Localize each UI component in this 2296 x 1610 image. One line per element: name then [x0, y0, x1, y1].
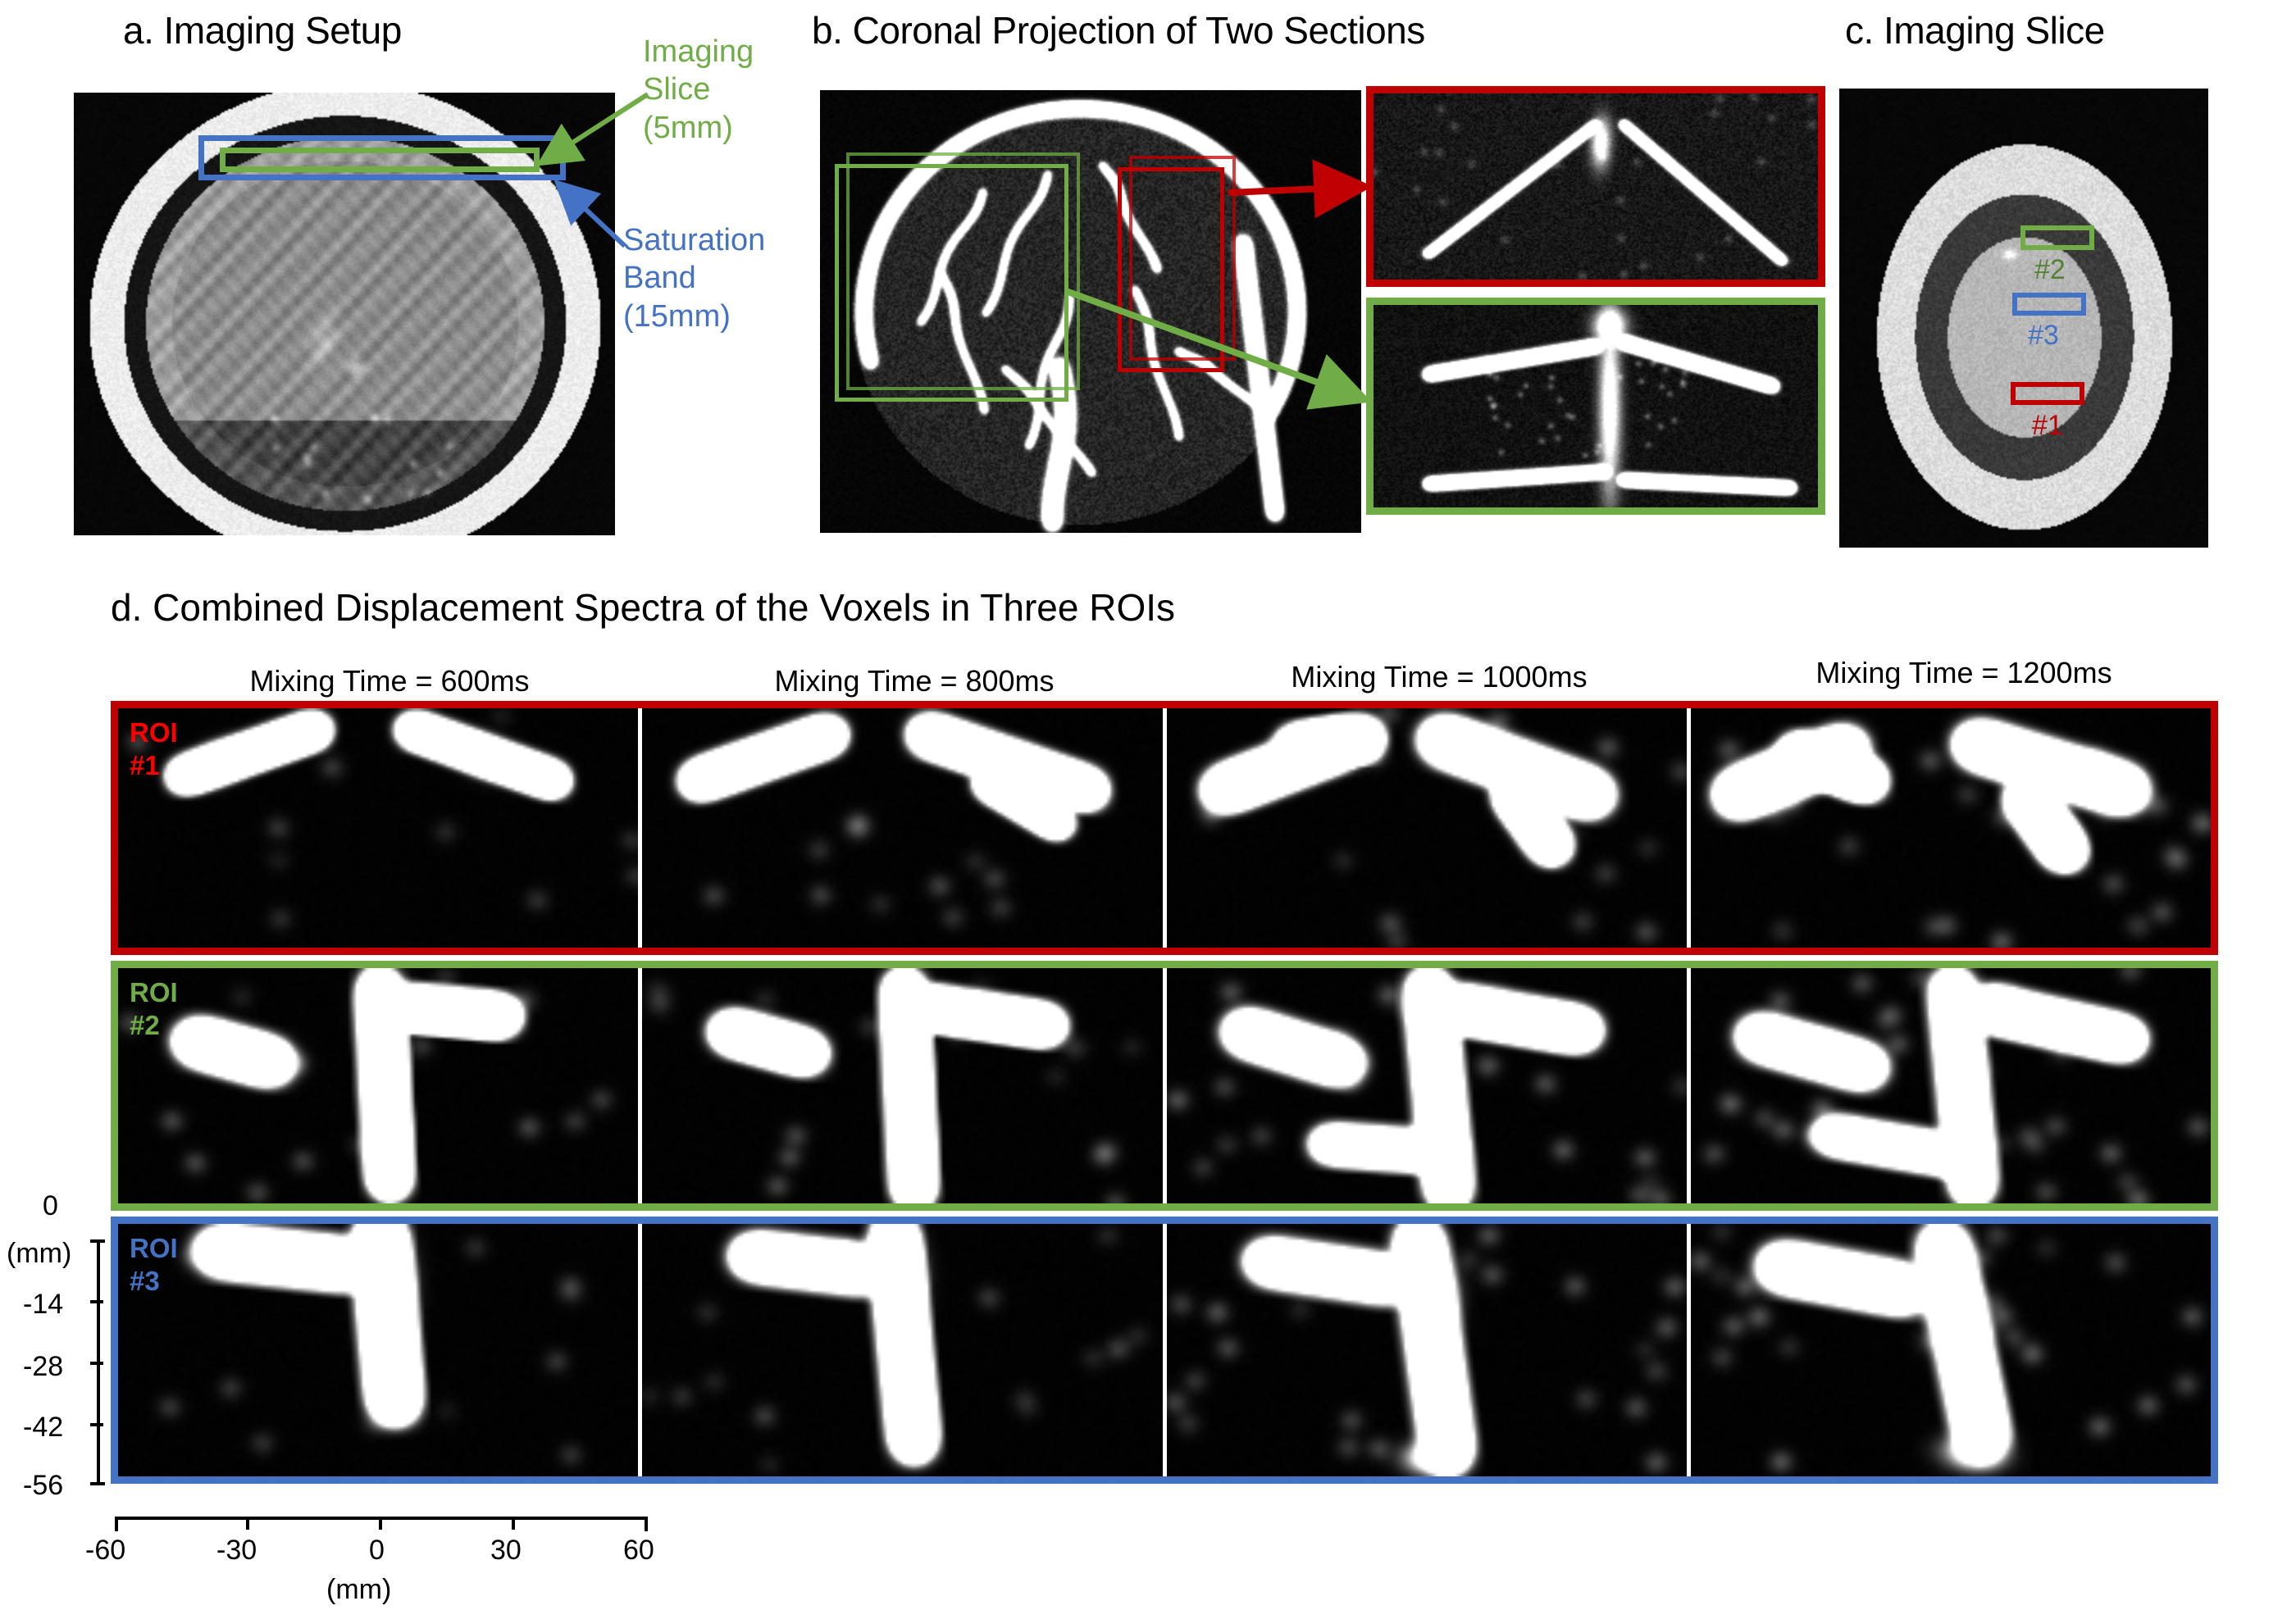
spectrum-cell-roi2-800ms	[638, 968, 1162, 1203]
panel-d-row-roi1: ROI #1	[111, 701, 2218, 955]
panel-d-column-title-600ms: Mixing Time = 600ms	[127, 664, 652, 698]
spectrum-cell-roi1-1200ms	[1687, 708, 2211, 948]
panel-c-roi2-label: #2	[2034, 254, 2066, 286]
panel-b-title: b. Coronal Projection of Two Sections	[812, 8, 1425, 52]
panel-d-column-title-1200ms: Mixing Time = 1200ms	[1701, 656, 2226, 690]
panel-c-roi3-box	[2012, 293, 2086, 316]
spectrum-cell-roi2-1000ms	[1163, 968, 1687, 1203]
panel-d-row-label-roi2: ROI #2	[130, 976, 178, 1043]
spectrum-cell-roi1-600ms: ROI #1	[118, 708, 638, 948]
panel-d-column-title-1000ms: Mixing Time = 1000ms	[1177, 660, 1701, 694]
panel-a-imaging-slice-box	[220, 148, 540, 172]
x-tick-minus30: -30	[216, 1535, 257, 1567]
panel-c-roi1-box	[2011, 382, 2084, 405]
spectrum-cell-roi2-600ms: ROI #2	[118, 968, 638, 1203]
panel-c-roi2-box	[2020, 225, 2094, 250]
panel-d-row-label-roi3: ROI #3	[130, 1232, 178, 1298]
panel-a-title: a. Imaging Setup	[123, 8, 402, 52]
panel-c-roi1-label: #1	[2032, 410, 2063, 442]
x-axis-tick-minus60	[115, 1517, 118, 1531]
panel-d-row-label-roi1: ROI #1	[130, 716, 178, 783]
x-tick-30: 30	[490, 1535, 522, 1567]
x-axis-tick-60	[645, 1517, 648, 1531]
spectrum-cell-roi2-1200ms	[1687, 968, 2211, 1203]
panel-b-red-inset-mri	[1366, 86, 1825, 287]
y-axis-tick-56	[90, 1482, 105, 1485]
spectrum-cell-roi3-800ms	[638, 1224, 1162, 1476]
y-axis-tick-top	[90, 1239, 105, 1243]
panel-b-red-section-box-back	[1129, 156, 1236, 361]
spectrum-cell-roi3-1000ms	[1163, 1224, 1687, 1476]
panel-b-green-section-box-back	[846, 152, 1080, 390]
panel-a-saturation-band-annotation: Saturation Band (15mm)	[623, 221, 828, 335]
panel-d-column-title-800ms: Mixing Time = 800ms	[652, 664, 1177, 698]
panel-c-title: c. Imaging Slice	[1845, 8, 2105, 52]
x-axis-unit-label: (mm)	[326, 1574, 391, 1606]
x-tick-0: 0	[369, 1535, 385, 1567]
panel-b-green-inset-mri	[1366, 298, 1825, 515]
x-axis-tick-minus30	[246, 1517, 249, 1530]
x-tick-minus60: -60	[85, 1535, 125, 1567]
spectrum-cell-roi1-800ms	[638, 708, 1162, 948]
panel-d-row-roi2: ROI #2	[111, 961, 2218, 1211]
x-axis-tick-0	[379, 1517, 382, 1530]
spectrum-cell-roi3-600ms: ROI #3	[118, 1224, 638, 1476]
spectrum-cell-roi1-1000ms	[1163, 708, 1687, 948]
panel-d-row-roi3: ROI #3	[111, 1217, 2218, 1484]
panel-a-imaging-slice-annotation: Imaging Slice (5mm)	[643, 33, 823, 147]
panel-c-imaging-slice-mri	[1839, 89, 2208, 548]
y-tick-minus28: -28	[23, 1351, 63, 1383]
y-axis-tick-42	[90, 1423, 103, 1426]
x-tick-60: 60	[623, 1535, 654, 1567]
y-tick-minus42: -42	[23, 1412, 63, 1444]
y-axis-tick-14	[90, 1300, 103, 1303]
y-tick-0: 0	[43, 1190, 58, 1222]
spectrum-cell-roi3-1200ms	[1687, 1224, 2211, 1476]
y-tick-minus56: -56	[23, 1470, 63, 1502]
y-tick-minus14: -14	[23, 1289, 63, 1321]
panel-c-roi3-label: #3	[2028, 320, 2059, 352]
x-axis-tick-30	[512, 1517, 515, 1530]
panel-d-title: d. Combined Displacement Spectra of the …	[111, 585, 1175, 630]
y-axis-unit-label: (mm)	[7, 1238, 71, 1270]
y-axis-tick-28	[90, 1362, 103, 1365]
